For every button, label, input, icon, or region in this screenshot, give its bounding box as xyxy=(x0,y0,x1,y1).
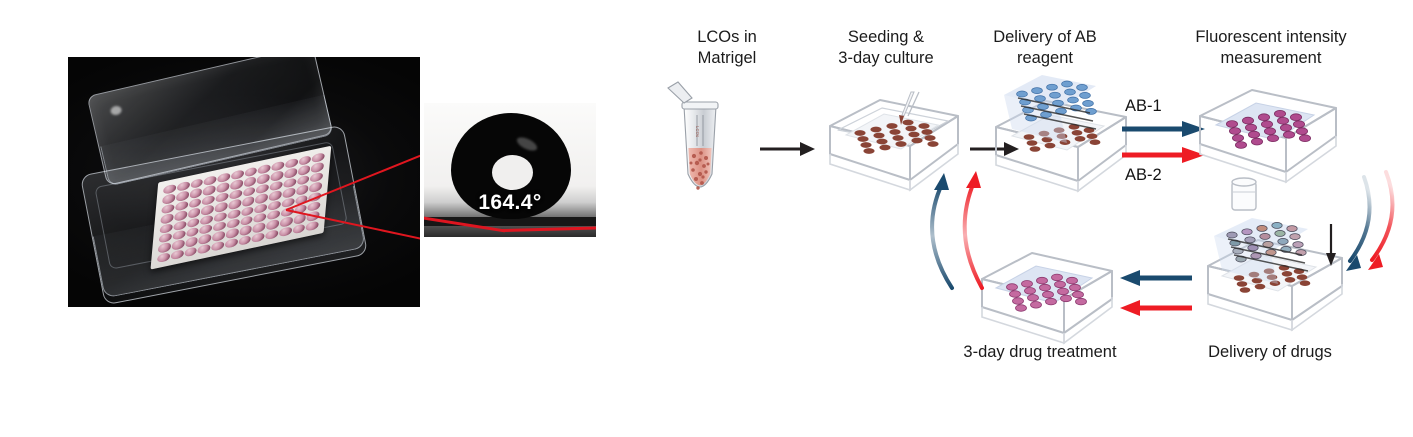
step-label-lcos-in-matrigel: LCOs in Matrigel xyxy=(652,27,802,69)
dish-drug-stamp-icon xyxy=(1192,222,1364,350)
step-label-fluorescent-measurement: Fluorescent intensity measurement xyxy=(1155,27,1387,69)
photo-background xyxy=(68,57,420,307)
step-label-delivery-of-ab-reagent: Delivery of AB reagent xyxy=(960,27,1130,69)
return-arrow-blue xyxy=(1120,270,1192,286)
petri-dish-photo-panel xyxy=(68,57,420,307)
flow-arrow-1 xyxy=(760,140,816,158)
return-arrow-red xyxy=(1120,300,1192,316)
droplet-inner-light-spot xyxy=(492,155,533,190)
microcentrifuge-tube-icon: LCOs xyxy=(660,82,752,214)
contact-angle-value: 164.4° xyxy=(424,191,596,215)
assay-workflow-diagram: LCOs in Matrigel Seeding & 3-day culture… xyxy=(630,0,1413,437)
loop-arrow-right-red xyxy=(1356,170,1413,282)
loop-arrow-left-red xyxy=(952,168,1008,294)
svg-text:LCOs: LCOs xyxy=(695,126,700,138)
contact-angle-inset: 164.4° xyxy=(424,103,596,237)
step-label-seeding-3day-culture: Seeding & 3-day culture xyxy=(798,27,974,69)
